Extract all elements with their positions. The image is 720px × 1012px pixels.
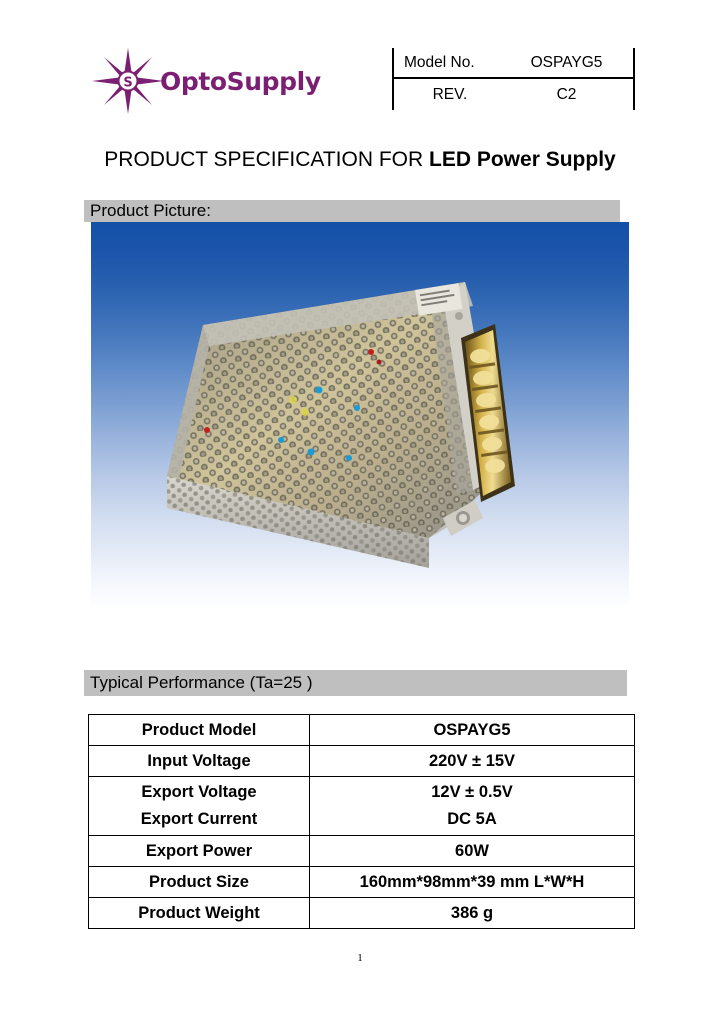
brand-logo: S OptoSupply	[92, 48, 392, 114]
model-number-value: OSPAYG5	[506, 54, 633, 72]
title-prefix: PRODUCT SPECIFICATION FOR	[104, 148, 429, 171]
model-info-table: Model No. OSPAYG5 REV. C2	[392, 48, 635, 110]
spec-key: Product Model	[89, 715, 310, 746]
table-row: Product Size 160mm*98mm*39 mm L*W*H	[89, 867, 635, 898]
spec-key: Input Voltage	[89, 746, 310, 777]
spec-value: 386 g	[310, 898, 635, 929]
model-number-row: Model No. OSPAYG5	[394, 48, 633, 79]
svg-text:S: S	[123, 76, 132, 91]
model-number-label: Model No.	[394, 54, 506, 72]
page-title: PRODUCT SPECIFICATION FOR LED Power Supp…	[0, 148, 720, 172]
spec-value: 220V ± 15V	[310, 746, 635, 777]
spec-value: 60W	[310, 836, 635, 867]
title-emphasis: LED Power Supply	[429, 148, 616, 171]
specification-table: Product Model OSPAYG5 Input Voltage 220V…	[88, 714, 635, 929]
starburst-logo-icon: S	[92, 48, 164, 114]
spec-key: Export Current	[89, 806, 309, 833]
spec-key: Export Voltage	[89, 779, 309, 806]
spec-value: 160mm*98mm*39 mm L*W*H	[310, 867, 635, 898]
spec-key-pair: Export Voltage Export Current	[89, 777, 310, 836]
spec-key: Product Size	[89, 867, 310, 898]
section-heading-typical-performance: Typical Performance (Ta=25 )	[84, 670, 627, 696]
document-header: S OptoSupply Model No. OSPAYG5 REV. C2	[0, 40, 720, 122]
spec-value: OSPAYG5	[310, 715, 635, 746]
table-row: Export Voltage Export Current 12V ± 0.5V…	[89, 777, 635, 836]
spec-value-pair: 12V ± 0.5V DC 5A	[310, 777, 635, 836]
product-photo	[91, 222, 629, 610]
spec-value: DC 5A	[310, 806, 634, 833]
section-heading-product-picture: Product Picture:	[84, 200, 620, 222]
spec-value: 12V ± 0.5V	[310, 779, 634, 806]
brand-name: OptoSupply	[160, 67, 321, 96]
revision-value: C2	[506, 86, 633, 104]
table-row: Input Voltage 220V ± 15V	[89, 746, 635, 777]
spec-key: Export Power	[89, 836, 310, 867]
table-row: Export Power 60W	[89, 836, 635, 867]
table-row: Product Model OSPAYG5	[89, 715, 635, 746]
power-supply-illustration	[143, 280, 543, 568]
page-number: 1	[0, 952, 720, 964]
revision-label: REV.	[394, 86, 506, 104]
revision-row: REV. C2	[394, 79, 633, 110]
spec-key: Product Weight	[89, 898, 310, 929]
table-row: Product Weight 386 g	[89, 898, 635, 929]
